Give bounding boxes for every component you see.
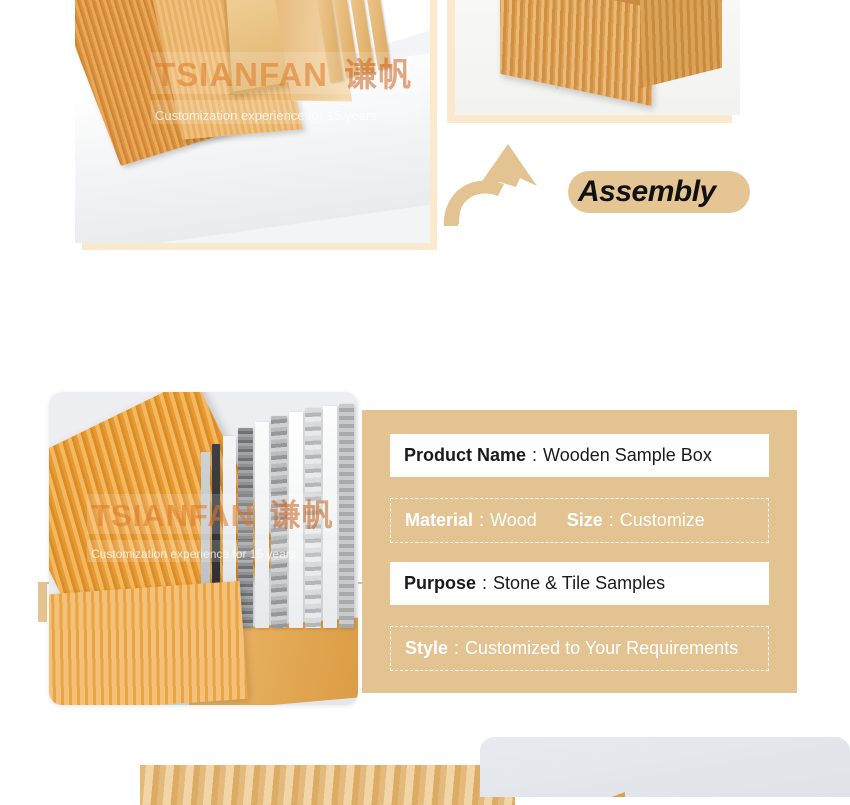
bottom-photo-right	[480, 737, 850, 797]
banner-photo-right	[455, 0, 740, 115]
parameter-key: Material	[405, 510, 473, 531]
assembly-label: Assembly	[578, 174, 746, 210]
parameter-separator: :	[482, 573, 487, 594]
parameter-separator: :	[454, 638, 459, 659]
header-accent-bar	[38, 582, 47, 622]
parameter-key-secondary: Size	[567, 510, 603, 531]
parameter-separator: :	[479, 510, 484, 531]
wooden-box	[500, 0, 700, 90]
section-header: PRODUCT PARAMETERS Sample box	[0, 280, 850, 350]
sample-slab	[289, 412, 303, 628]
box-body	[49, 581, 248, 705]
sample-slab	[305, 408, 321, 628]
parameter-row: Material : Wood Size : Customize	[390, 498, 769, 543]
product-parameters-panel: Product Name : Wooden Sample Box Materia…	[362, 410, 797, 693]
sample-slab	[339, 404, 354, 628]
parameter-value-secondary: Customize	[620, 510, 705, 531]
parameter-key: Style	[405, 638, 448, 659]
parameter-key: Purpose	[404, 573, 476, 594]
parameter-value: Wooden Sample Box	[543, 445, 712, 466]
parameter-row: Product Name : Wooden Sample Box	[390, 434, 769, 477]
parameter-separator: :	[532, 445, 537, 466]
wooden-panel	[535, 765, 625, 797]
curved-up-arrow-icon	[442, 140, 552, 235]
top-banner: TSIANFAN 谦帆 Customization experience for…	[0, 0, 850, 258]
parameter-value: Stone & Tile Samples	[493, 573, 665, 594]
sample-slab	[271, 416, 287, 628]
parameter-row: Style : Customized to Your Requirements	[390, 626, 769, 671]
bottom-photo-left	[140, 765, 515, 805]
banner-photo-left: TSIANFAN 谦帆 Customization experience for…	[75, 0, 430, 243]
parameter-value: Customized to Your Requirements	[465, 638, 738, 659]
parameter-row: Purpose : Stone & Tile Samples	[390, 562, 769, 605]
parameter-separator-secondary: :	[609, 510, 614, 531]
product-photo: TSIANFAN 谦帆 Customization experience for…	[49, 392, 358, 705]
sample-slab	[255, 422, 269, 628]
parameter-key: Product Name	[404, 445, 526, 466]
parameter-value: Wood	[490, 510, 537, 531]
sample-slab	[323, 406, 337, 628]
